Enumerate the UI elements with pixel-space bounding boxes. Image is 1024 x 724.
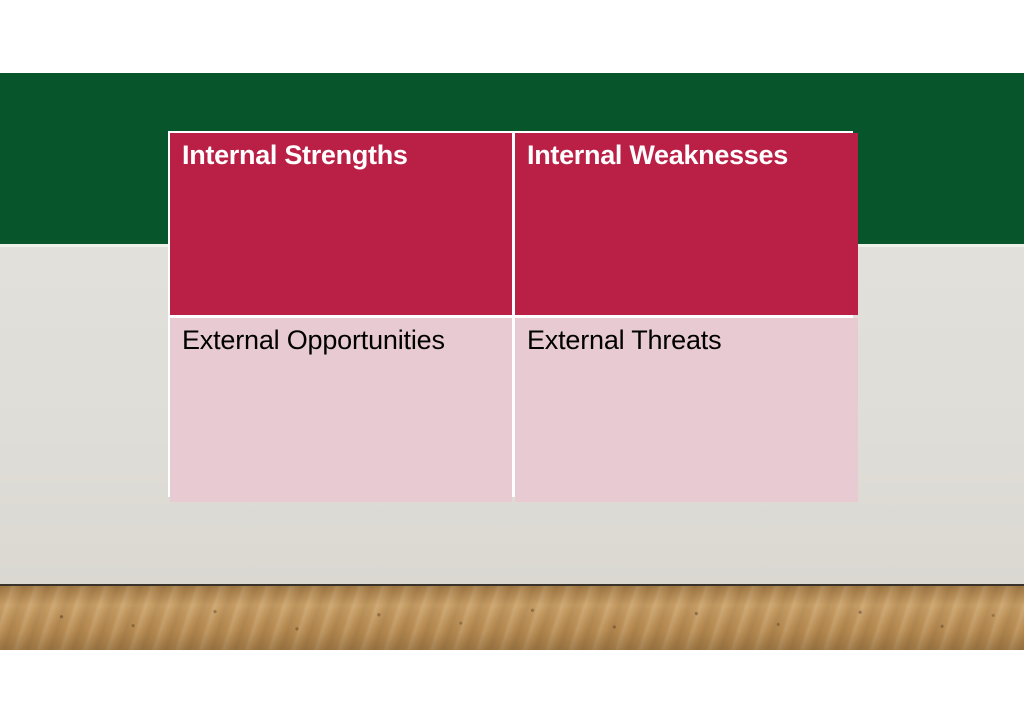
swot-cell-internal-weaknesses[interactable]: Internal Weaknesses (515, 133, 858, 315)
swot-matrix: Internal Strengths Internal Weaknesses E… (168, 131, 853, 497)
floor-grain-texture (0, 586, 1024, 650)
cell-title-internal-weaknesses: Internal Weaknesses (527, 141, 846, 169)
wooden-floor (0, 586, 1024, 650)
swot-cell-external-threats[interactable]: External Threats (515, 318, 858, 502)
cell-title-external-threats: External Threats (527, 326, 846, 354)
swot-cell-external-opportunities[interactable]: External Opportunities (170, 318, 512, 502)
floor-shading (0, 586, 1024, 650)
swot-cell-internal-strengths[interactable]: Internal Strengths (170, 133, 512, 315)
floor-knot-marks (0, 586, 1024, 650)
slide-canvas: Internal Strengths Internal Weaknesses E… (0, 0, 1024, 724)
cell-title-internal-strengths: Internal Strengths (182, 141, 500, 169)
cell-title-external-opportunities: External Opportunities (182, 326, 500, 354)
